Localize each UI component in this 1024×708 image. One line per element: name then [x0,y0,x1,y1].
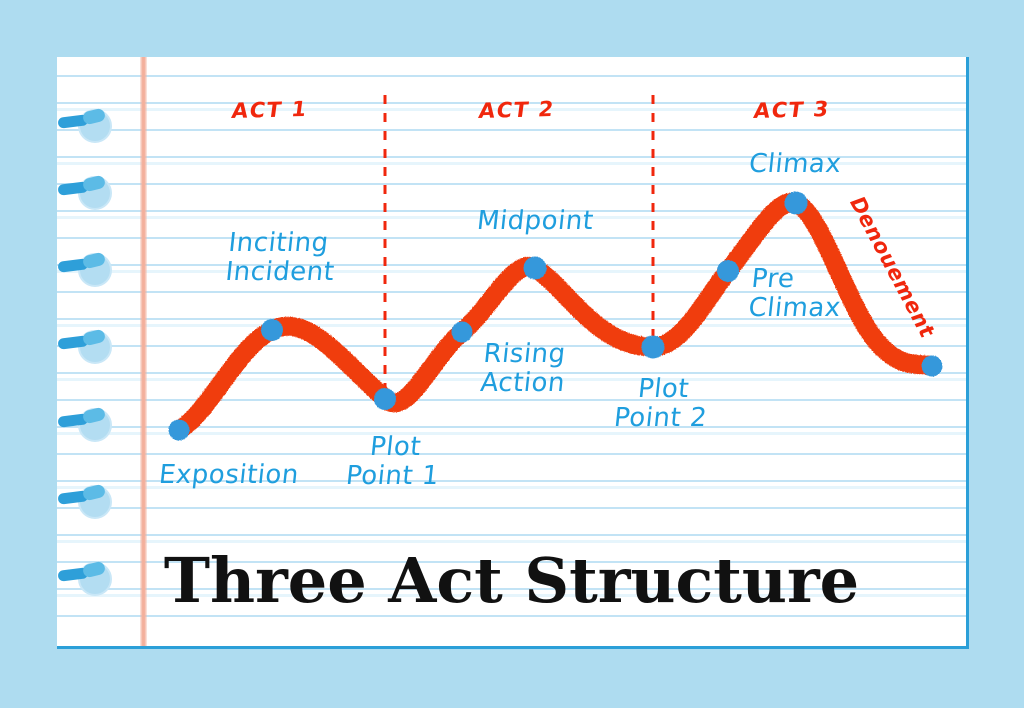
dot-denouement-end [922,356,943,377]
binding-ring-5 [78,408,112,442]
label-midpoint: Midpoint [475,207,595,236]
label-rising-action: Rising Action [479,340,570,398]
page-title: Three Act Structure [57,544,966,617]
act-3-label: ACT 3 [752,97,831,123]
label-pre-climax: Pre Climax [747,265,845,323]
three-act-structure-infographic: ACT 1 ACT 2 ACT 3 Exposition Inciting In… [0,0,1024,708]
dot-inciting-incident [261,319,283,341]
dot-plot-point-2 [642,336,665,359]
act-1-label: ACT 1 [230,97,309,123]
binding-ring-2 [78,176,112,210]
binding-ring-3 [78,253,112,287]
act-2-label: ACT 2 [477,97,556,123]
binding-ring-4 [78,330,112,364]
binding-ring-1 [78,109,112,143]
dot-climax [785,192,808,215]
dot-pre-climax [717,260,739,282]
label-plot-point-2: Plot Point 2 [594,375,730,433]
label-climax: Climax [747,150,842,179]
label-plot-point-1: Plot Point 1 [336,433,452,491]
binding-ring-7 [78,562,112,596]
dot-rising-action [452,322,473,343]
binding-ring-6 [78,485,112,519]
dot-exposition [169,420,190,441]
label-inciting-incident: Inciting Incident [224,229,339,287]
notebook-paper-sheet: ACT 1 ACT 2 ACT 3 Exposition Inciting In… [57,57,966,646]
dot-midpoint [524,257,547,280]
dot-plot-point-1 [374,388,396,410]
label-exposition: Exposition [157,461,300,490]
